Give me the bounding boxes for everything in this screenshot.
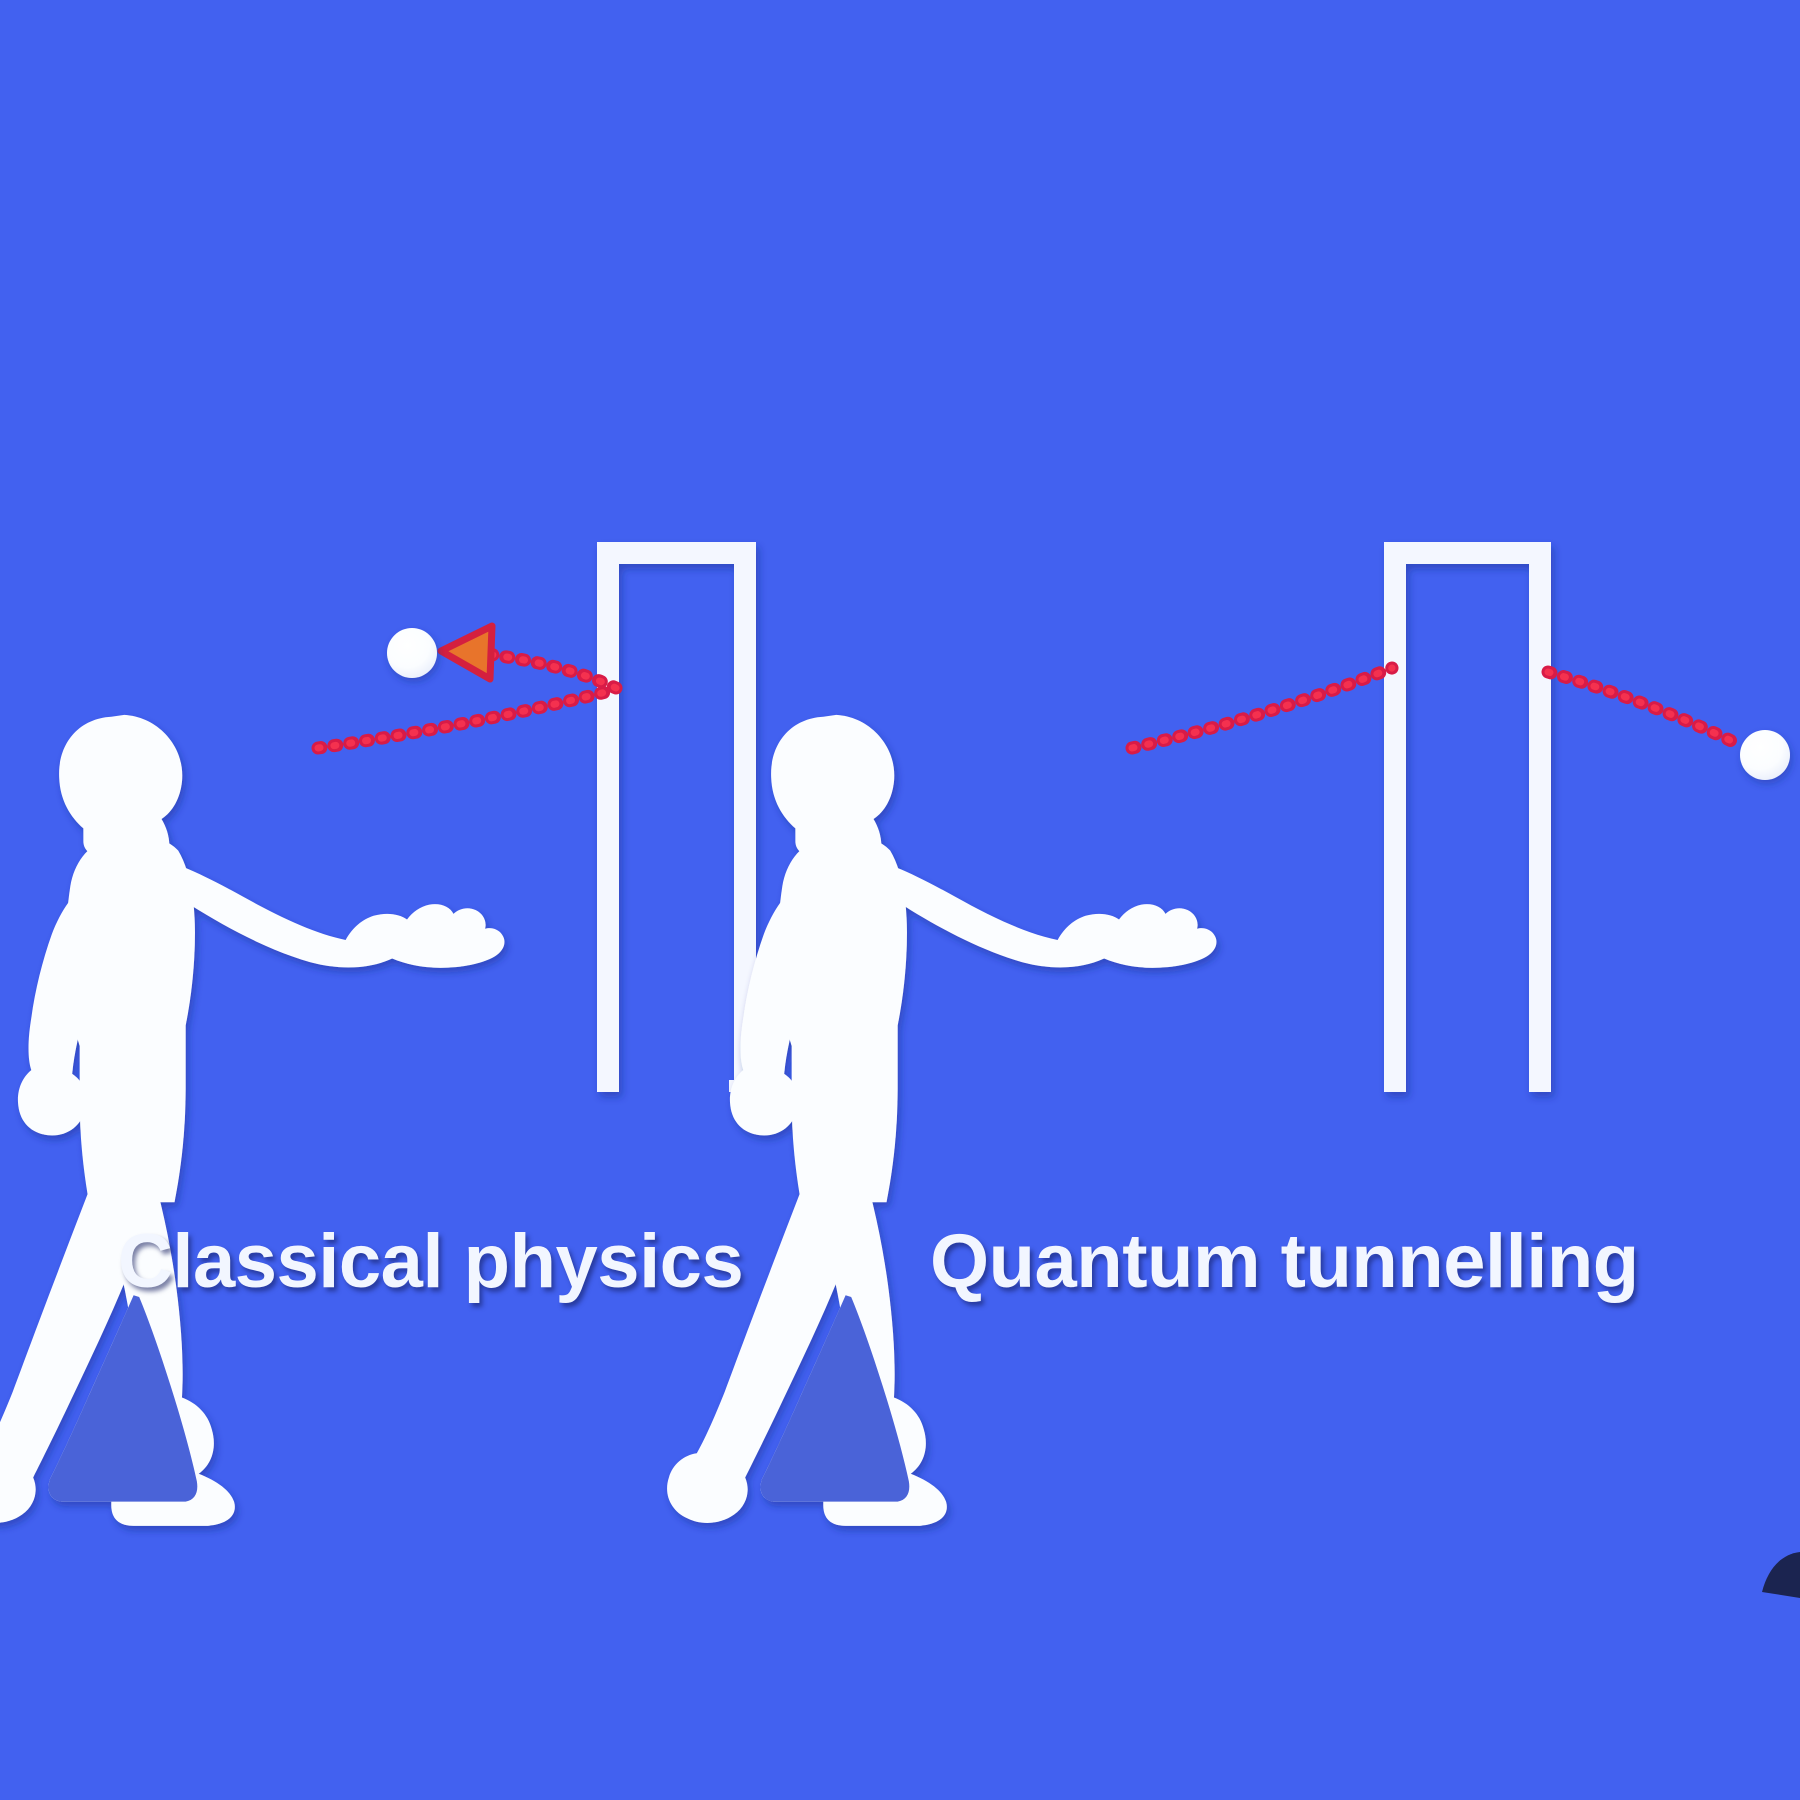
ball-quantum (1740, 730, 1790, 780)
caption-classical-physics: Classical physics (118, 1218, 743, 1305)
caption-quantum-tunnelling: Quantum tunnelling (930, 1218, 1639, 1305)
ball-classical (387, 628, 437, 678)
physics-diagram-svg (0, 0, 1800, 1800)
diagram-canvas: Classical physics Quantum tunnelling (0, 0, 1800, 1800)
